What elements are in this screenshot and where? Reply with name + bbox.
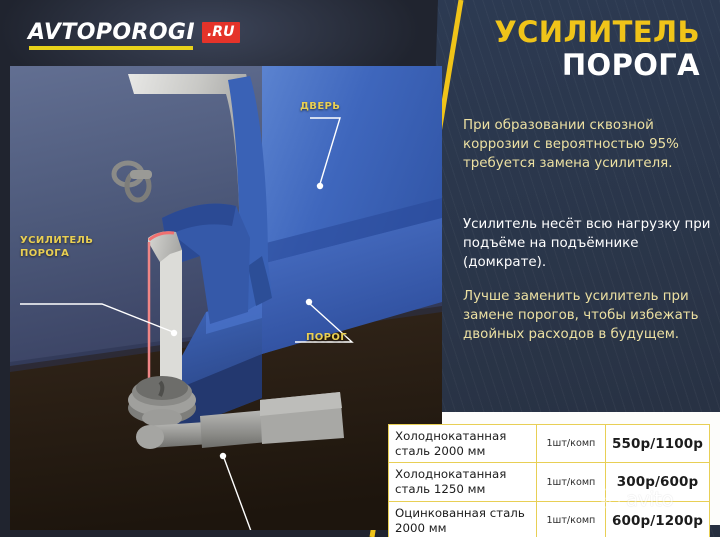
brand-wordmark: AVTOPOROGI bbox=[28, 22, 195, 44]
brand-name: AVTOPOROGI bbox=[28, 22, 195, 44]
price-cell: 600р/1200р bbox=[605, 501, 709, 537]
table-row: Холоднокатанная сталь 2000 мм 1шт/комп 5… bbox=[389, 425, 710, 463]
sill-cutaway-diagram bbox=[10, 66, 442, 530]
material-cell: Оцинкованная сталь 2000 мм bbox=[389, 501, 537, 537]
price-cell: 550р/1100р bbox=[605, 425, 709, 463]
info-paragraph-1: При образовании сквозной коррозии с веро… bbox=[463, 117, 713, 173]
poster-title-line2: ПОРОГА bbox=[494, 51, 700, 80]
qty-cell: 1шт/комп bbox=[536, 501, 605, 537]
info-paragraph-2: Усилитель несёт всю нагрузку при подъёме… bbox=[463, 216, 713, 272]
poster-root: AVTOPOROGI .RU bbox=[0, 0, 720, 537]
poster-title-line1: УСИЛИТЕЛЬ bbox=[494, 18, 700, 47]
brand-tld-badge: .RU bbox=[202, 22, 240, 43]
label-sill-reinforcement: УСИЛИТЕЛЬ ПОРОГА bbox=[20, 235, 93, 260]
label-door: ДВЕРЬ bbox=[300, 101, 340, 114]
label-sill: ПОРОГ bbox=[306, 332, 347, 345]
material-cell: Холоднокатанная сталь 1250 мм bbox=[389, 463, 537, 501]
qty-cell: 1шт/комп bbox=[536, 463, 605, 501]
qty-cell: 1шт/комп bbox=[536, 425, 605, 463]
price-cell: 300р/600р bbox=[605, 463, 709, 501]
material-cell: Холоднокатанная сталь 2000 мм bbox=[389, 425, 537, 463]
brand-underline bbox=[29, 46, 193, 50]
brand-logo[interactable]: AVTOPOROGI .RU bbox=[28, 22, 240, 44]
info-paragraph-3: Лучше заменить усилитель при замене поро… bbox=[463, 288, 713, 344]
table-row: Холоднокатанная сталь 1250 мм 1шт/комп 3… bbox=[389, 463, 710, 501]
car-sill-illustration: ДВЕРЬ УСИЛИТЕЛЬ ПОРОГА ПОРОГ ПОДЪЁМНИК bbox=[10, 66, 442, 530]
table-row: Оцинкованная сталь 2000 мм 1шт/комп 600р… bbox=[389, 501, 710, 537]
price-table: Холоднокатанная сталь 2000 мм 1шт/комп 5… bbox=[388, 424, 710, 537]
poster-title: УСИЛИТЕЛЬ ПОРОГА bbox=[494, 18, 700, 80]
